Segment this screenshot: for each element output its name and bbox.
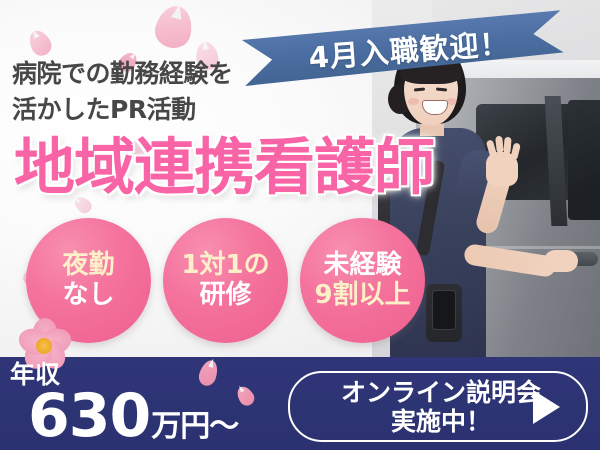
feature-circle-inexperienced: 未経験 9割以上 xyxy=(300,218,425,343)
nurse-phone xyxy=(432,290,456,330)
nurse-finger xyxy=(503,137,511,154)
salary-block: 年収 630 万円〜 xyxy=(8,362,238,448)
lead-copy: 病院での勤務経験を 活かしたPR活動 xyxy=(12,56,312,127)
lead-line-2: 活かしたPR活動 xyxy=(12,92,312,128)
cta-label: オンライン説明会 実施中！ xyxy=(341,378,541,436)
feature-line-1: 夜勤 xyxy=(62,251,114,280)
feature-line-2: 研修 xyxy=(199,281,251,310)
cta-line-2: 実施中！ xyxy=(341,407,541,436)
feature-line-1: 1対1の xyxy=(181,251,269,280)
recruitment-banner: 4月入職歓迎！ 病院での勤務経験を 活かしたPR活動 地域連携看護師 夜勤 なし… xyxy=(0,0,600,450)
car-rear-window xyxy=(568,100,600,220)
play-triangle-icon[interactable] xyxy=(533,390,560,424)
nurse-cheek-left xyxy=(408,98,419,105)
feature-circle-group: 夜勤 なし 1対1の 研修 未経験 9割以上 xyxy=(26,218,425,343)
salary-amount: 630 xyxy=(28,385,150,448)
sakura-flower-center xyxy=(36,338,52,354)
cta-line-1: オンライン説明会 xyxy=(341,378,541,407)
salary-value-row: 630 万円〜 xyxy=(8,385,238,448)
page-title: 地域連携看護師 xyxy=(14,137,434,198)
salary-unit: 万円〜 xyxy=(151,401,238,445)
feature-circle-training: 1対1の 研修 xyxy=(163,218,288,343)
lead-line-1: 病院での勤務経験を xyxy=(12,56,312,92)
feature-line-2: 9割以上 xyxy=(314,281,410,310)
feature-line-1: 未経験 xyxy=(323,251,401,280)
online-briefing-button[interactable]: オンライン説明会 実施中！ xyxy=(288,371,588,442)
nurse-lower-hand xyxy=(544,250,578,272)
feature-line-2: なし xyxy=(62,281,114,310)
